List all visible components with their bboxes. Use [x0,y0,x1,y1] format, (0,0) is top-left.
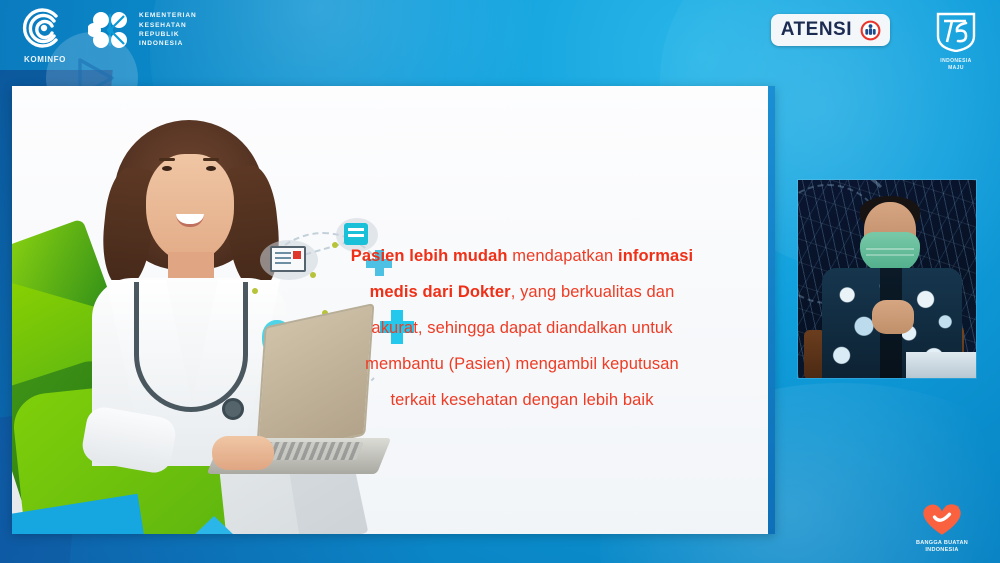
atensi-badge: ATENSI [771,14,890,46]
slide-text-line-2-rest: , yang berkualitas dan [511,283,675,301]
anniversary-75-logo: INDONESIA MAJU [930,10,982,62]
slide-body-text: Pasien lebih mudah mendapatkan informasi… [312,238,732,418]
slide-text-line-1-bold: Pasien lebih mudah [351,247,508,265]
broadcast-stage: KOMINFO KEMENTERIAN KESEHAT [0,0,1000,563]
slide-text-line-1: Pasien lebih mudah mendapatkan informasi [312,238,732,274]
doctor-hand [212,436,274,470]
doctor-brow-right [203,158,219,161]
doctor-eye-right [206,166,216,171]
connector-dot [252,288,258,294]
atensi-badge-label: ATENSI [781,19,852,41]
anniversary-caption-line-1: INDONESIA [940,58,971,64]
doctor-eye-left [162,166,172,171]
stethoscope-icon [134,282,248,412]
stethoscope-head-icon [222,398,244,420]
surgical-mask-icon [860,232,920,272]
slide-text-line-2-bold: medis dari Dokter [370,283,511,301]
doctor-brow-left [159,158,175,161]
kemenkes-line-2: KESEHATAN [139,21,197,30]
doctor-face [146,154,234,262]
slide-text-line-2: medis dari Dokter, yang berkualitas dan [312,274,732,310]
atensi-label-text: ATENSI [781,19,852,41]
shield-75-icon [930,10,982,52]
slide-text-line-5: terkait kesehatan dengan lebih baik [312,382,732,418]
doctor-photo [64,120,314,460]
speaker-video-inset[interactable] [798,180,976,378]
slide-right-accent-bar [768,86,775,534]
slide-text-line-4: membantu (Pasien) mengambil keputusan [312,346,732,382]
slide-shape-blue-triangle [172,516,256,534]
kemenkes-line-3: REPUBLIK [139,30,197,39]
desk-surface [906,352,976,378]
medical-document-icon [270,246,306,272]
bbi-caption: BANGGA BUATAN INDONESIA [906,540,978,555]
bangga-buatan-indonesia-logo: BANGGA BUATAN INDONESIA [906,499,978,555]
anniversary-caption: INDONESIA MAJU [930,58,982,71]
slide-text-line-1-bold-2: informasi [618,247,693,265]
heart-icon [914,499,970,537]
kemenkes-logo-text: KEMENTERIAN KESEHATAN REPUBLIK INDONESIA [139,11,197,49]
slide-text-line-1-rest: mendapatkan [508,247,618,265]
presentation-slide: Pasien lebih mudah mendapatkan informasi… [12,86,775,534]
kemenkes-line-1: KEMENTERIAN [139,11,197,20]
anniversary-caption-line-2: MAJU [948,65,964,71]
speaker-hands [872,300,914,334]
header-bar: KOMINFO KEMENTERIAN KESEHAT [0,0,1000,85]
health-protocol-icon [860,20,881,41]
kemenkes-line-4: INDONESIA [139,39,197,48]
bbi-caption-line-1: BANGGA BUATAN [906,540,978,547]
bbi-caption-line-2: INDONESIA [906,547,978,554]
slide-text-line-3: akurat, sehingga dapat diandalkan untuk [312,310,732,346]
